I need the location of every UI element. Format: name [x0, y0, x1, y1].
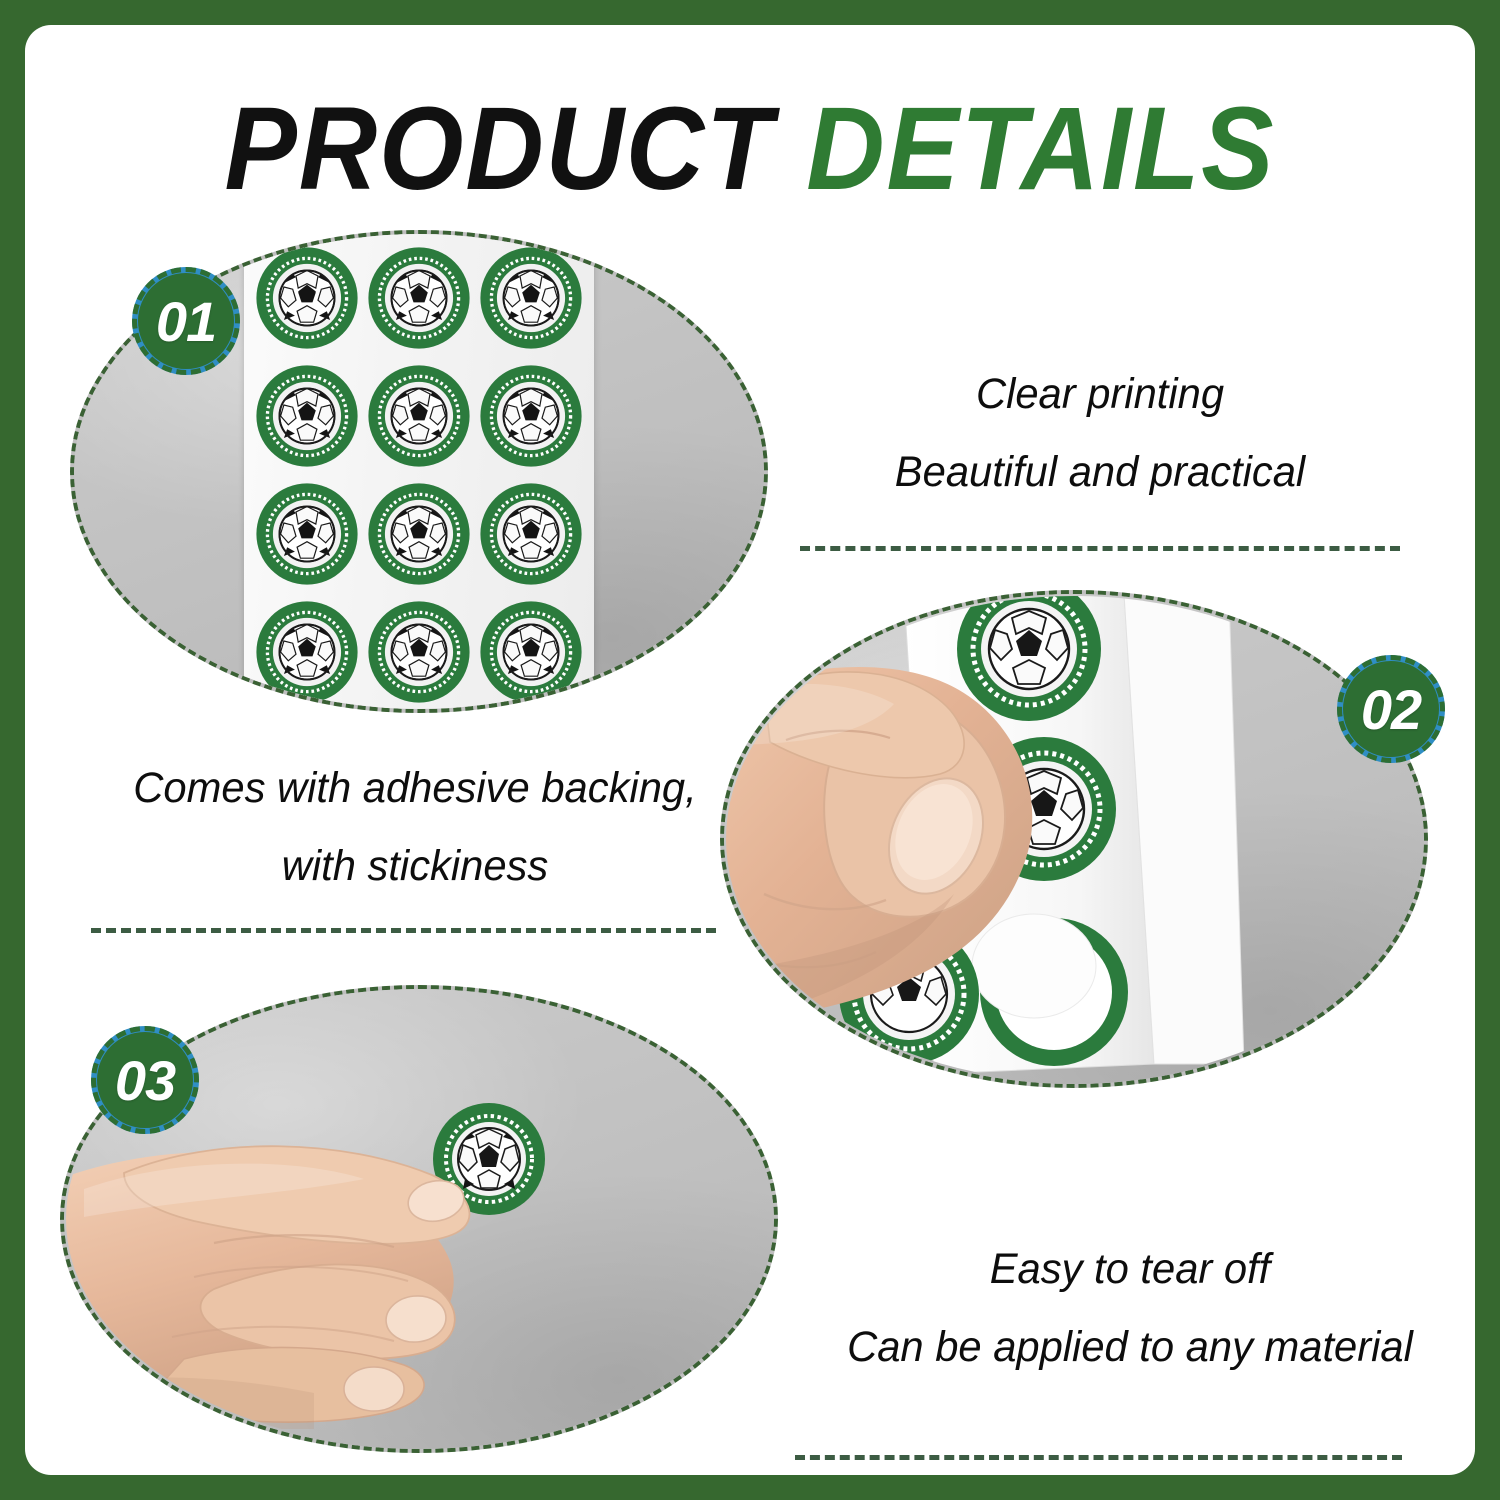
feature-line-2: Can be applied to any material — [771, 1308, 1475, 1386]
peeling-sticker-photo — [724, 594, 1424, 1084]
soccer-ball-sticker — [252, 476, 362, 592]
feature-text-adhesive-backing: Comes with adhesive backing, with sticki… — [66, 749, 764, 905]
page-title-part-1: PRODUCT — [225, 83, 775, 215]
page-title-part-2: DETAILS — [806, 83, 1275, 215]
feature-text-clear-printing: Clear printing Beautiful and practical — [794, 355, 1405, 511]
soccer-ball-sticker — [364, 240, 474, 356]
soccer-ball-sticker — [252, 358, 362, 474]
step-badge-01: 01 — [138, 273, 234, 369]
soccer-ball-sticker — [476, 476, 586, 592]
step-badge-02: 02 — [1343, 661, 1439, 757]
soccer-ball-sticker — [252, 594, 362, 710]
feature-line-1: Clear printing — [794, 355, 1405, 433]
soccer-ball-sticker — [364, 476, 474, 592]
feature-line-1: Easy to tear off — [771, 1230, 1475, 1308]
step-badge-01-label: 01 — [156, 289, 216, 354]
sticker-sheet — [244, 230, 594, 713]
divider-right-bottom — [795, 1455, 1402, 1460]
soccer-ball-sticker — [476, 240, 586, 356]
soccer-ball-sticker — [364, 594, 474, 710]
sticker-sheet-grid — [252, 240, 586, 710]
soccer-ball-sticker — [252, 240, 362, 356]
feature-text-easy-tear-off: Easy to tear off Can be applied to any m… — [771, 1230, 1475, 1386]
step-badge-03-label: 03 — [115, 1048, 175, 1113]
step-badge-03: 03 — [97, 1032, 193, 1128]
soccer-ball-sticker — [476, 358, 586, 474]
feature-line-2: Beautiful and practical — [794, 433, 1405, 511]
page-title: PRODUCT DETAILS — [83, 87, 1417, 211]
feature-line-1: Comes with adhesive backing, — [66, 749, 764, 827]
step-badge-02-label: 02 — [1361, 677, 1421, 742]
poster-frame: PRODUCT DETAILS — [0, 0, 1500, 1500]
feature-line-2: with stickiness — [66, 827, 764, 905]
divider-left-middle — [91, 928, 716, 933]
divider-right-top — [800, 546, 1400, 551]
soccer-ball-sticker — [364, 358, 474, 474]
soccer-ball-sticker — [476, 594, 586, 710]
poster-inner-canvas: PRODUCT DETAILS — [25, 25, 1475, 1475]
panel-02-peeling-sticker — [720, 590, 1428, 1088]
